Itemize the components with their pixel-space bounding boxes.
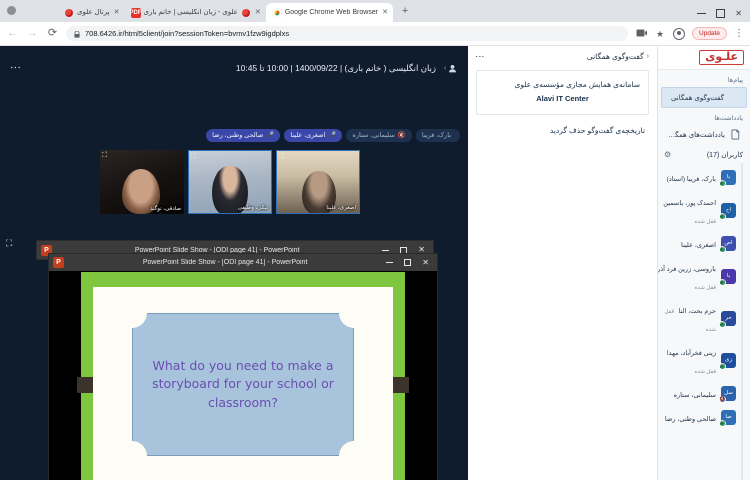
close-window-icon[interactable]: ✕ bbox=[735, 9, 742, 18]
powerpoint-slide-stage[interactable]: What do you need to make a storyboard fo… bbox=[49, 271, 437, 480]
chat-panel: ‹ گفت‌وگوی همگانی ⋮ سامانه‌ی همایش مجازی… bbox=[468, 46, 658, 480]
chat-bubble-icon bbox=[729, 92, 740, 103]
user-name: سلیمانی، ستاره bbox=[674, 392, 716, 399]
expand-icon[interactable]: ⛶ bbox=[102, 152, 107, 160]
chat-system-message: تاریخچه‌ی گفت‌وگو حذف گردید bbox=[476, 126, 649, 135]
chat-menu-icon[interactable]: ⋮ bbox=[476, 52, 483, 61]
powerpoint-front-window-controls: ✕ bbox=[386, 259, 433, 267]
chevron-back-icon[interactable]: ‹ bbox=[647, 53, 649, 60]
slide-band-right bbox=[393, 377, 409, 393]
avatar-initials: صا bbox=[725, 414, 731, 420]
system-menu-icon[interactable] bbox=[7, 6, 16, 15]
chat-welcome-message: سامانه‌ی همایش مجازی مؤسسه‌ی علوی Alavi … bbox=[476, 70, 649, 115]
browser-menu-icon[interactable]: ⋮ bbox=[734, 29, 744, 39]
chat-title-group[interactable]: ‹ گفت‌وگوی همگانی bbox=[587, 52, 649, 61]
user-name: صالحی وطنی، رضا bbox=[665, 416, 716, 423]
meeting-user-button[interactable]: ‹ bbox=[444, 61, 458, 75]
browser-tab-1-title: علوی - زبان انگلیسی | خانم باری bbox=[144, 9, 238, 16]
avatar: اح 🎤 bbox=[721, 203, 736, 218]
minimize-icon[interactable] bbox=[697, 13, 706, 14]
rail-section-messages-label: پیام‌ها bbox=[658, 70, 750, 87]
list-item-meta: اصغری، علینا bbox=[660, 234, 716, 252]
close-icon[interactable]: ✕ bbox=[254, 9, 262, 17]
slide-callout-shape: What do you need to make a storyboard fo… bbox=[132, 313, 354, 455]
avatar-initials: با bbox=[727, 174, 730, 180]
list-item[interactable]: حر 🎤 حرم بحت، النا قفل شده bbox=[658, 297, 741, 339]
list-item-meta: باروسی، زرین فرد آذر قفل شده bbox=[660, 258, 716, 294]
right-rail: علـوی پیام‌ها گفت‌وگوی همگانی یادداشت‌ها… bbox=[658, 46, 750, 480]
maximize-icon[interactable] bbox=[404, 259, 411, 266]
mic-icon: 🎤 bbox=[719, 363, 726, 370]
user-status: قفل شده bbox=[695, 285, 716, 291]
browser-tab-2-title: Google Chrome Web Browser bbox=[285, 9, 378, 16]
user-name: حرم بحت، النا bbox=[679, 308, 716, 315]
slide-frame: What do you need to make a storyboard fo… bbox=[81, 272, 405, 480]
update-button[interactable]: Update bbox=[692, 27, 727, 40]
list-item-meta: سلیمانی، ستاره bbox=[660, 384, 716, 402]
speaker-pill-2-name: سلیمانی، ستاره bbox=[352, 131, 394, 139]
avatar: زی 🎤 bbox=[721, 353, 736, 368]
avatar: حر 🎤 bbox=[721, 311, 736, 326]
rail-item-shared-notes-label: یادداشت‌های همگانی bbox=[667, 131, 725, 139]
webcam-tile-0-name: صادقی، نوگند bbox=[150, 206, 181, 212]
expand-icon[interactable]: ⛶ bbox=[6, 238, 12, 249]
mic-icon: 🎤 bbox=[266, 131, 274, 139]
browser-tab-0[interactable]: پرتال علوی ✕ bbox=[58, 3, 125, 22]
powerpoint-window-front[interactable]: P PowerPoint Slide Show - [ODI page 41] … bbox=[48, 253, 438, 480]
expand-icon[interactable]: ⛶ bbox=[191, 153, 196, 161]
webcam-tile-2[interactable]: ⛶ اصغری، علینا bbox=[276, 150, 360, 214]
minimize-icon[interactable] bbox=[386, 262, 393, 263]
avatar-initials: زی bbox=[725, 357, 732, 363]
list-item[interactable]: با 🎤 بارک، فریبا (استاد) bbox=[658, 165, 741, 189]
users-header: کاربران (17) ⚙ bbox=[658, 144, 750, 163]
user-status: قفل شده bbox=[695, 369, 716, 375]
user-name: بارک، فریبا (استاد) bbox=[667, 176, 716, 183]
list-item[interactable]: اص 🎤 اصغری، علینا bbox=[658, 231, 741, 255]
webcam-tile-0[interactable]: ⛶ صادقی، نوگند bbox=[100, 150, 184, 214]
powerpoint-titlebar[interactable]: P PowerPoint Slide Show - [ODI page 41] … bbox=[49, 254, 437, 271]
slide-band-left bbox=[77, 377, 93, 393]
mic-icon: 🎤 bbox=[328, 131, 336, 139]
user-list[interactable]: با 🎤 بارک، فریبا (استاد) اح 🎤 احمدک پور، bbox=[658, 163, 743, 480]
avatar-initials: اح bbox=[726, 207, 731, 213]
avatar-initials: سل bbox=[724, 390, 733, 396]
mic-icon: 🎤 bbox=[719, 420, 726, 427]
powerpoint-app-icon: P bbox=[53, 257, 64, 268]
avatar-initials: حر bbox=[725, 315, 731, 321]
pdf-icon: PDF bbox=[131, 8, 141, 18]
maximize-icon[interactable] bbox=[716, 9, 725, 18]
webcam-tiles: ⛶ صادقی، نوگند ⛶ تبکی، وظیفی ⛶ اصغری، عل… bbox=[100, 150, 360, 214]
bookmark-star-icon[interactable]: ★ bbox=[654, 28, 666, 40]
users-count-label: کاربران (17) bbox=[707, 151, 743, 159]
user-status: قفل شده bbox=[695, 219, 716, 225]
close-icon[interactable]: ✕ bbox=[113, 9, 121, 17]
gear-icon[interactable]: ⚙ bbox=[664, 150, 671, 159]
chrome-icon bbox=[272, 8, 282, 18]
meeting-options-icon[interactable]: ⋮ bbox=[11, 62, 19, 73]
slide-text: What do you need to make a storyboard fo… bbox=[147, 357, 339, 411]
speaker-pill-2[interactable]: 🔇 سلیمانی، ستاره bbox=[346, 129, 411, 142]
list-item-meta: احمدک پور، یاسمین قفل شده bbox=[660, 192, 716, 228]
reload-button[interactable]: ⟳ bbox=[46, 27, 59, 40]
browser-tab-2[interactable]: Google Chrome Web Browser ✕ bbox=[266, 3, 393, 22]
mic-icon: 🎤 bbox=[719, 279, 726, 286]
avatar: با 🎤 bbox=[721, 170, 736, 185]
toolbar-right-group: ★ Update ⋮ bbox=[635, 27, 744, 40]
user-name: احمدک پور، یاسمین bbox=[663, 200, 716, 207]
speaker-pill-0[interactable]: 🎤 صالحی وطنی، رضا bbox=[206, 129, 280, 142]
list-item[interactable]: اح 🎤 احمدک پور، یاسمین قفل شده bbox=[658, 189, 741, 231]
list-item[interactable]: زی 🎤 زینی فخرآباد، مهدا قفل شده bbox=[658, 339, 741, 381]
list-item[interactable]: با 🎤 باروسی، زرین فرد آذر قفل شده bbox=[658, 255, 741, 297]
browser-tab-strip: پرتال علوی ✕ PDF علوی - زبان انگلیسی | خ… bbox=[0, 0, 750, 22]
speaker-pill-3[interactable]: بارک، فریبا bbox=[416, 129, 460, 142]
list-item-meta: زینی فخرآباد، مهدا قفل شده bbox=[660, 342, 716, 378]
avatar: صا 🎤 bbox=[721, 410, 736, 425]
user-name: اصغری، علینا bbox=[681, 242, 716, 249]
mic-icon: 🎤 bbox=[719, 213, 726, 220]
globe-icon bbox=[64, 8, 74, 18]
window-controls: ✕ bbox=[697, 9, 750, 22]
rail-item-shared-notes[interactable]: یادداشت‌های همگانی bbox=[661, 125, 747, 144]
forward-button[interactable]: → bbox=[26, 27, 39, 40]
meeting-topbar: زبان انگلیسی ( خانم باری) | 1400/09/22 |… bbox=[28, 58, 458, 78]
user-name: باروسی، زرین فرد آذر bbox=[658, 266, 716, 273]
list-item-meta: حرم بحت، النا قفل شده bbox=[660, 300, 716, 336]
speaker-pill-0-name: صالحی وطنی، رضا bbox=[212, 131, 263, 139]
rail-section-notes-label: یادداشت‌ها bbox=[658, 108, 750, 125]
rail-item-public-chat[interactable]: گفت‌وگوی همگانی bbox=[661, 87, 747, 108]
media-cast-icon[interactable] bbox=[635, 28, 647, 40]
webcam-tile-1-name: تبکی، وظیفی bbox=[238, 205, 268, 211]
webcam-tile-1[interactable]: ⛶ تبکی، وظیفی bbox=[188, 150, 272, 214]
page-viewport: ⋮ زبان انگلیسی ( خانم باری) | 1400/09/22… bbox=[0, 46, 750, 480]
user-icon bbox=[448, 64, 457, 73]
expand-icon[interactable]: ⛶ bbox=[279, 153, 284, 161]
mic-icon: 🎤 bbox=[719, 246, 726, 253]
browser-toolbar: ← → ⟳ 708.6426.ir/html5client/join?sessi… bbox=[0, 22, 750, 46]
list-item-meta: بارک، فریبا (استاد) bbox=[660, 168, 716, 186]
profile-avatar[interactable] bbox=[673, 28, 685, 40]
user-name: زینی فخرآباد، مهدا bbox=[667, 350, 716, 357]
recording-dot-icon bbox=[241, 8, 251, 18]
brand-logo: علـوی bbox=[658, 46, 750, 70]
address-bar-url: 708.6426.ir/html5client/join?sessionToke… bbox=[85, 29, 289, 38]
close-icon[interactable]: ✕ bbox=[381, 9, 389, 17]
chat-welcome-line-1: سامانه‌ی همایش مجازی مؤسسه‌ی علوی bbox=[485, 78, 640, 92]
brand-text: علـوی bbox=[699, 50, 744, 65]
speaker-pill-1-name: اصغری، علینا bbox=[290, 131, 325, 139]
chat-header: ‹ گفت‌وگوی همگانی ⋮ bbox=[476, 52, 649, 61]
webcam-tile-2-name: اصغری، علینا bbox=[326, 205, 356, 211]
list-item[interactable]: صا 🎤 صالحی وطنی، رضا bbox=[658, 405, 741, 429]
browser-tab-1[interactable]: PDF علوی - زبان انگلیسی | خانم باری ✕ bbox=[125, 3, 266, 22]
new-tab-button[interactable]: + bbox=[397, 4, 413, 20]
mic-muted-icon: 🔇 bbox=[719, 396, 726, 403]
address-bar[interactable]: 708.6426.ir/html5client/join?sessionToke… bbox=[66, 26, 628, 41]
active-speaker-pills: بارک، فریبا 🔇 سلیمانی، ستاره 🎤 اصغری، عل… bbox=[206, 128, 460, 142]
speaker-pill-1[interactable]: 🎤 اصغری، علینا bbox=[284, 129, 342, 142]
tabstrip-lead bbox=[0, 0, 58, 22]
slide-canvas: What do you need to make a storyboard fo… bbox=[93, 287, 393, 480]
meeting-area: ⋮ زبان انگلیسی ( خانم باری) | 1400/09/22… bbox=[0, 46, 468, 480]
meeting-title: زبان انگلیسی ( خانم باری) | 1400/09/22 |… bbox=[236, 63, 436, 74]
list-item-meta: صالحی وطنی، رضا bbox=[660, 408, 716, 426]
rail-item-public-chat-label: گفت‌وگوی همگانی bbox=[671, 94, 724, 102]
chat-title: گفت‌وگوی همگانی bbox=[587, 52, 644, 61]
note-icon bbox=[730, 129, 741, 140]
chevron-left-icon: ‹ bbox=[444, 65, 446, 72]
speaker-pill-3-name: بارک، فریبا bbox=[422, 131, 451, 139]
back-button[interactable]: ← bbox=[6, 27, 19, 40]
browser-tab-0-title: پرتال علوی bbox=[77, 9, 110, 16]
powerpoint-front-title: PowerPoint Slide Show - [ODI page 41] - … bbox=[64, 259, 386, 266]
avatar: اص 🎤 bbox=[721, 236, 736, 251]
mic-icon: 🎤 bbox=[719, 321, 726, 328]
lock-icon bbox=[74, 25, 80, 43]
avatar: سل 🔇 bbox=[721, 386, 736, 401]
minimize-icon[interactable] bbox=[382, 250, 389, 251]
chat-welcome-line-2: Alavi IT Center bbox=[485, 92, 640, 106]
mic-icon: 🎤 bbox=[719, 180, 726, 187]
avatar-initials: با bbox=[727, 273, 730, 279]
mic-muted-icon: 🔇 bbox=[398, 131, 406, 139]
close-icon[interactable]: ✕ bbox=[422, 259, 429, 267]
avatar: با 🎤 bbox=[721, 269, 736, 284]
avatar-initials: اص bbox=[724, 240, 732, 246]
list-item[interactable]: سل 🔇 سلیمانی، ستاره bbox=[658, 381, 741, 405]
app-root: پرتال علوی ✕ PDF علوی - زبان انگلیسی | خ… bbox=[0, 0, 750, 480]
